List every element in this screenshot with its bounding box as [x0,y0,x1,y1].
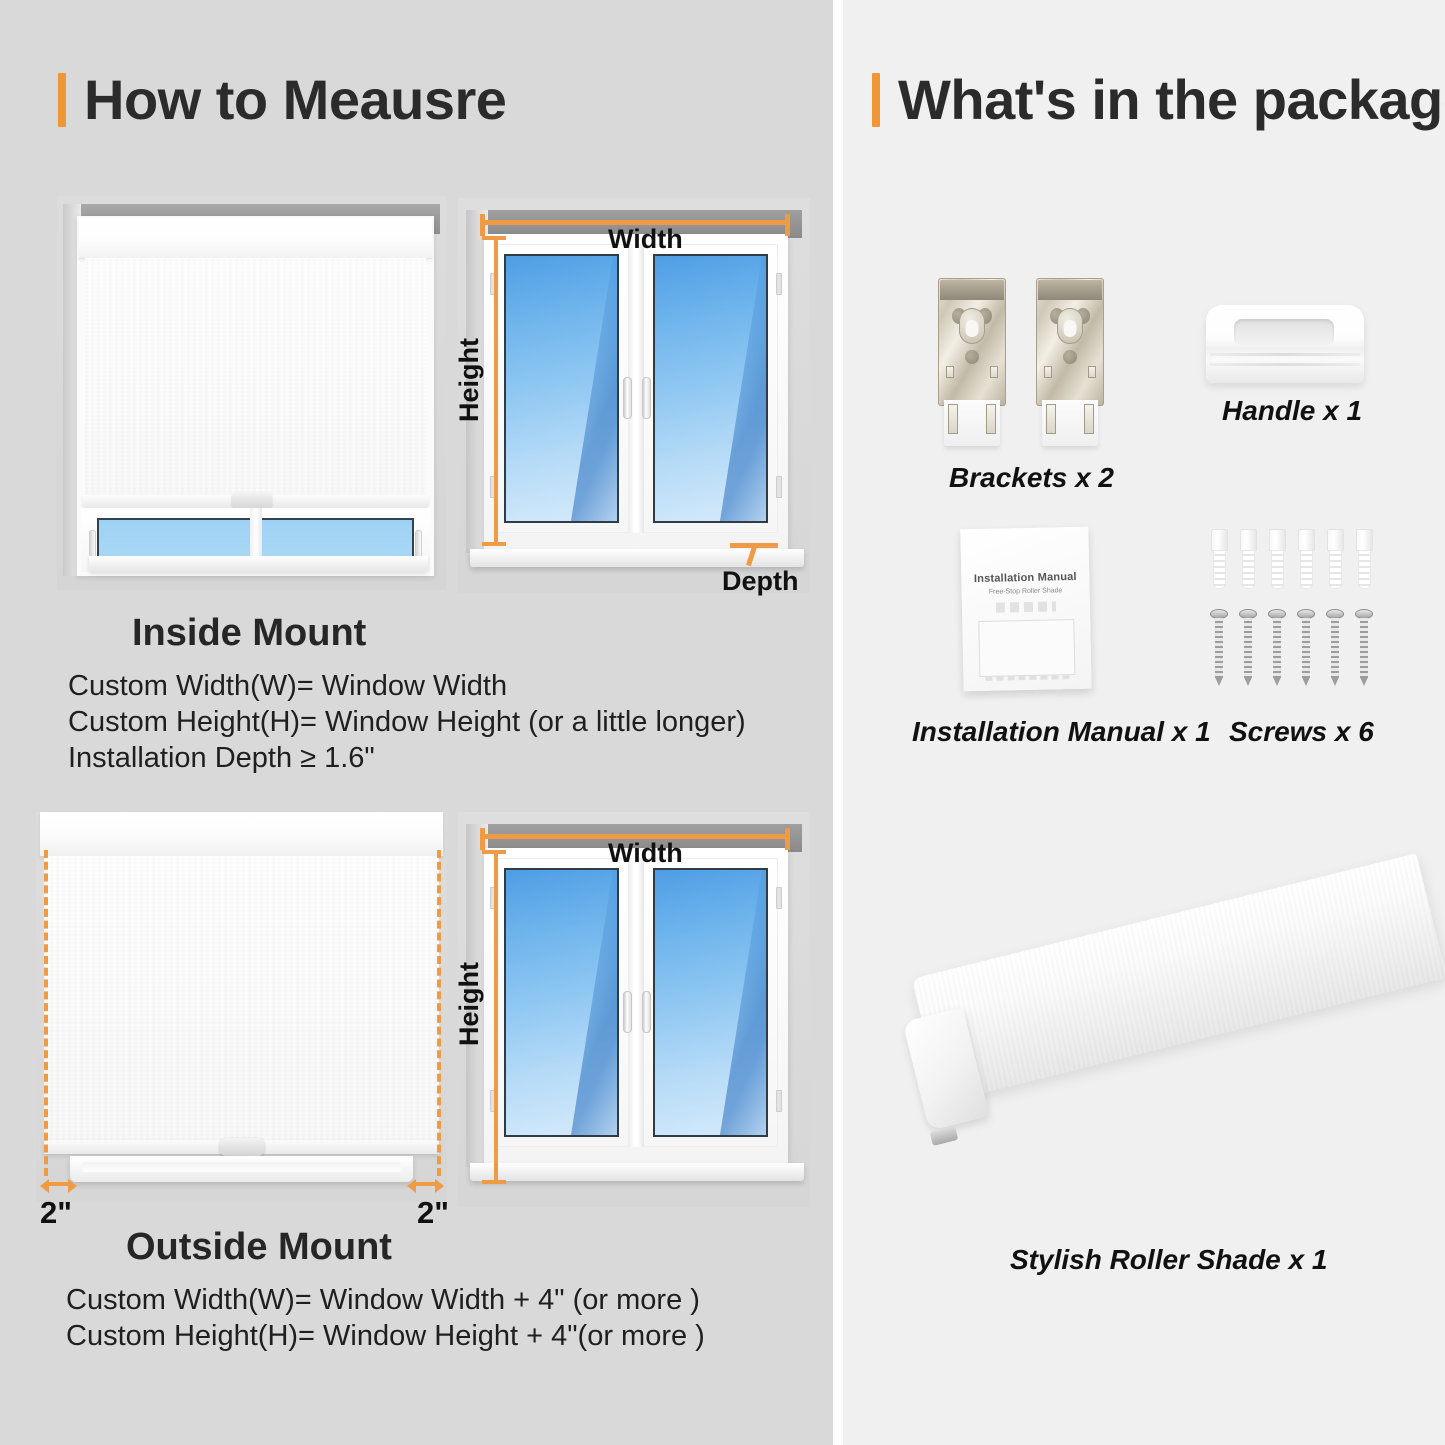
outside-window-sill [70,1156,413,1182]
whats-in-package-heading-text: What's in the package [898,72,1445,128]
outside-mount-line-2: Custom Height(H)= Window Height + 4"(or … [66,1320,705,1353]
screw-6 [1355,609,1373,685]
overhang-dashed-line-left [44,850,48,1176]
installation-manual-part: Installation Manual Free-Stop Roller Sha… [960,527,1091,692]
handle-part [1206,305,1364,383]
outside-mount-measure-diagram: Width Height [458,812,810,1207]
diagram2-glass-right [653,868,768,1137]
anchor-head-5 [1327,529,1344,551]
inside-mount-line-1: Custom Width(W)= Window Width [68,670,507,703]
bracket-slot-r1 [990,366,998,378]
manual-cover-title: Installation Manual [971,571,1079,585]
outside-shade-fabric [44,856,439,1144]
screw-1 [1210,609,1228,685]
wall-anchor-4 [1298,529,1315,589]
outside-shade-valance [40,812,443,856]
overhang-arrowhead-left-in [68,1179,77,1193]
wall-anchor-2 [1240,529,1257,589]
manual-cover-footer [985,675,1069,681]
overhang-arrowhead-right-in [407,1179,416,1193]
anchor-head-2 [1240,529,1257,551]
screw-4 [1297,609,1315,685]
whats-in-package-heading: What's in the package [872,72,1445,128]
window-handle-left [89,530,96,558]
manual-cover-illustration-box [978,619,1075,677]
anchor-body-4 [1300,550,1313,589]
diagram2-sash-left [494,858,629,1147]
manual-cover-subtitle: Free-Stop Roller Shade [972,587,1080,596]
diagram-sash-right [643,244,778,533]
diagram2-hinge-bottom-right [776,1090,782,1112]
bracket-foot-slot-l2 [1046,404,1056,434]
outside-mount-line-1: Custom Width(W)= Window Width + 4" (or m… [66,1284,700,1317]
screw-tip-5 [1331,677,1339,686]
inside-mount-title: Inside Mount [132,612,366,655]
handle-label: Handle x 1 [1222,395,1362,427]
shade-fabric [85,258,426,499]
overhang-label-right: 2" [417,1195,449,1231]
how-to-measure-heading-text: How to Meausre [84,72,506,128]
brackets-label: Brackets x 2 [949,462,1114,494]
handle-ridge-1 [1210,353,1360,356]
anchor-body-2 [1242,550,1255,589]
handle-ridge-2 [1210,363,1360,366]
bracket-item-2 [1036,278,1104,446]
roller-shade-label: Stylish Roller Shade x 1 [1010,1244,1327,1276]
infographic-page: How to Meausre [0,0,1445,1445]
screw-tip-2 [1244,677,1252,686]
diagram2-glass-left [504,868,619,1137]
width-tick-left-2 [480,828,485,850]
diagram2-handle-left [623,991,632,1033]
diagram-hinge-top-right [776,273,782,295]
bracket-top-flange-1 [940,280,1004,300]
diagram-sash-wrap [494,244,778,533]
height-tick-top-2 [482,850,506,854]
width-tick-right-2 [785,828,790,850]
screw-tip-3 [1273,677,1281,686]
screw-tip-4 [1302,677,1310,686]
shade-pull-handle [232,492,272,508]
depth-label: Depth [722,566,799,597]
height-label: Height [454,338,485,422]
bracket-keyhole-2 [1057,308,1083,344]
window-handle-right [415,530,422,558]
panel-divider [833,0,843,1445]
anchor-body-5 [1329,550,1342,589]
screw-shaft-3 [1273,618,1281,678]
screw-shaft-6 [1360,618,1368,678]
outside-mount-title: Outside Mount [126,1226,392,1269]
diagram2-sill [470,1163,804,1181]
outside-mount-shade-illustration: 2" 2" [36,812,447,1202]
bracket-keyhole-1 [959,308,985,344]
height-measure-bar-2 [494,850,498,1184]
overhang-arrowhead-right [435,1179,444,1193]
width-tick-left [480,214,485,236]
bracket-foot-slot-l1 [948,404,958,434]
roller-shade-product-image [905,885,1440,1215]
screw-2 [1239,609,1257,685]
anchor-body-1 [1213,550,1226,589]
height-label-2: Height [454,962,485,1046]
anchor-body-6 [1358,550,1371,589]
outside-shade-pull-handle [220,1138,264,1156]
installation-manual-label: Installation Manual x 1 [912,716,1211,748]
wall-anchor-6 [1356,529,1373,589]
screw-shaft-2 [1244,618,1252,678]
bracket-keyhole-inner-2 [1064,320,1077,337]
bracket-slot-l1 [946,366,954,378]
inside-mount-line-2: Custom Height(H)= Window Height (or a li… [68,706,746,739]
bracket-slot-r2 [1088,366,1096,378]
anchor-head-1 [1211,529,1228,551]
screw-shaft-5 [1331,618,1339,678]
anchor-head-6 [1356,529,1373,551]
overhang-label-left: 2" [40,1195,72,1231]
anchor-head-3 [1269,529,1286,551]
accent-bar-left [58,73,66,127]
manual-cover-scribble [996,601,1056,612]
bracket-hole-c1 [965,350,979,364]
roller-shade-end-pin [930,1126,959,1146]
screw-5 [1326,609,1344,685]
bracket-keyhole-inner-1 [966,320,979,337]
shade-valance [79,218,432,259]
bracket-slot-l2 [1044,366,1052,378]
diagram-glass-left [504,254,619,523]
roller-shade-tube [912,853,1445,1103]
overhang-dashed-line-right [437,850,441,1176]
anchor-head-4 [1298,529,1315,551]
wall-anchor-3 [1269,529,1286,589]
screw-shaft-1 [1215,618,1223,678]
diagram2-sash-right [643,858,778,1147]
bracket-foot-2 [1042,400,1098,446]
diagram-handle-right [642,377,651,419]
diagram2-hinge-top-right [776,887,782,909]
width-tick-right [785,214,790,236]
wall-anchor-1 [1211,529,1228,589]
screws-label: Screws x 6 [1229,716,1374,748]
handle-grip-slot [1234,319,1334,345]
height-tick-bottom-2 [482,1180,506,1184]
diagram-sash-left [494,244,629,533]
bracket-foot-slot-r1 [986,404,996,434]
height-tick-top [482,236,506,240]
inside-mount-line-3: Installation Depth ≥ 1.6" [68,742,375,775]
bracket-foot-1 [944,400,1000,446]
window-sill [89,556,428,572]
height-tick-bottom [482,542,506,546]
width-label-2: Width [608,838,683,869]
bracket-hole-c2 [1063,350,1077,364]
diagram2-sash-wrap [494,858,778,1147]
bracket-item-1 [938,278,1006,446]
outside-window-sill-inner [82,1162,401,1172]
diagram2-handle-right [642,991,651,1033]
width-label: Width [608,224,683,255]
diagram-glass-right [653,254,768,523]
window-sash-area [81,508,430,572]
wall-anchor-5 [1327,529,1344,589]
anchor-body-3 [1271,550,1284,589]
bracket-top-flange-2 [1038,280,1102,300]
diagram-window-frame [484,234,788,551]
diagram-hinge-bottom-right [776,476,782,498]
screw-tip-6 [1360,677,1368,686]
inside-mount-measure-diagram: Width Height Depth [458,198,810,593]
screw-3 [1268,609,1286,685]
diagram2-window-frame [484,848,788,1165]
height-measure-bar [494,236,498,546]
screw-tip-1 [1215,677,1223,686]
screw-shaft-4 [1302,618,1310,678]
overhang-arrowhead-left [40,1179,49,1193]
bracket-foot-slot-r2 [1084,404,1094,434]
diagram-handle-left [623,377,632,419]
accent-bar-right [872,73,880,127]
how-to-measure-heading: How to Meausre [58,72,506,128]
inside-mount-shade-illustration [57,196,446,590]
